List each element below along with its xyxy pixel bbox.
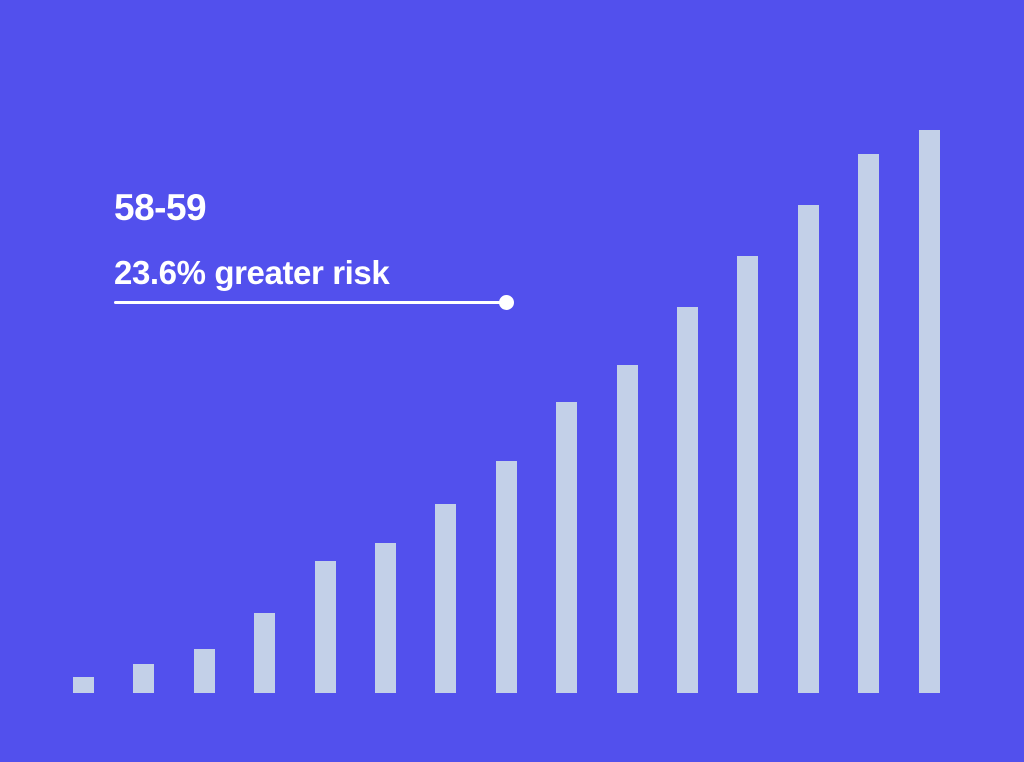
bar-76-79[interactable] <box>798 205 819 693</box>
bar-58-59[interactable] <box>496 461 517 693</box>
bar-60-63[interactable] <box>556 402 577 693</box>
bar-30-35[interactable] <box>194 649 215 693</box>
bar-series <box>0 0 1024 762</box>
chart-container: 58-59 23.6% greater risk <box>0 0 1024 762</box>
bar-86+[interactable] <box>919 130 940 693</box>
bar-18-23[interactable] <box>73 677 94 693</box>
bar-68-71[interactable] <box>677 307 698 693</box>
annotation-age-label: 58-59 <box>114 186 674 230</box>
bar-42-47[interactable] <box>315 561 336 693</box>
bar-54-57[interactable] <box>435 504 456 693</box>
bar-24-29[interactable] <box>133 664 154 693</box>
bar-36-41[interactable] <box>254 613 275 693</box>
bar-64-67[interactable] <box>617 365 638 693</box>
marker-dot-icon[interactable] <box>499 295 514 310</box>
bar-72-75[interactable] <box>737 256 758 693</box>
annotation-callout: 58-59 23.6% greater risk <box>114 186 674 294</box>
annotation-risk-label: 23.6% greater risk <box>114 252 674 294</box>
bar-48-53[interactable] <box>375 543 396 693</box>
bar-80-85[interactable] <box>858 154 879 693</box>
leader-line <box>114 301 506 304</box>
